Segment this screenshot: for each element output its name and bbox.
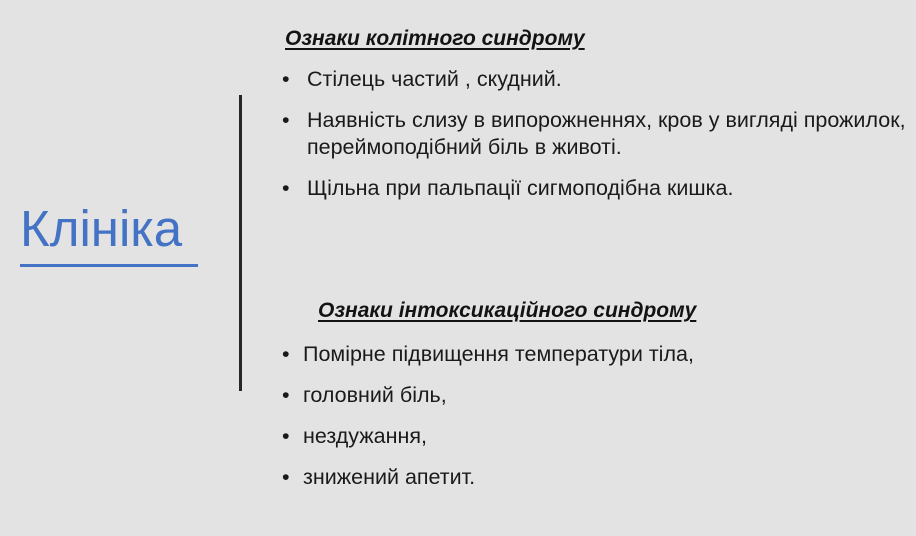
page-title: Клініка xyxy=(20,196,182,262)
list-item: • Стілець частий , скудний. xyxy=(270,66,916,93)
bullet-point-icon: • xyxy=(282,66,290,93)
bullet-list-colitis: • Стілець частий , скудний. • Наявність … xyxy=(270,66,916,202)
bullet-list-intoxication: • Помірне підвищення температури тіла, •… xyxy=(270,341,916,491)
list-item: • Щільна при пальпації сигмоподібна кишк… xyxy=(270,175,916,202)
list-item-text: знижений апетит. xyxy=(303,465,475,489)
list-item-text: нездужання, xyxy=(303,424,427,448)
list-item-text: Наявність слизу в випорожненнях, кров у … xyxy=(307,108,906,159)
list-item: • Помірне підвищення температури тіла, xyxy=(270,341,916,368)
bullet-point-icon: • xyxy=(282,175,290,202)
bullet-point-icon: • xyxy=(282,464,290,491)
content-column: Ознаки колітного синдрому • Стілець част… xyxy=(270,0,916,536)
section-heading-intoxication: Ознаки інтоксикаційного синдрому xyxy=(318,296,916,326)
list-item-text: головний біль, xyxy=(303,383,447,407)
section-colitis-syndrome: Ознаки колітного синдрому • Стілець част… xyxy=(270,24,916,216)
list-item: • знижений апетит. xyxy=(270,464,916,491)
slide-canvas: Клініка Ознаки колітного синдрому • Стіл… xyxy=(0,0,916,536)
list-item-text: Щільна при пальпації сигмоподібна кишка. xyxy=(307,176,733,200)
vertical-divider xyxy=(239,95,242,391)
list-item: • головний біль, xyxy=(270,382,916,409)
section-intoxication-syndrome: Ознаки інтоксикаційного синдрому • Помір… xyxy=(270,296,916,505)
section-heading-colitis: Ознаки колітного синдрому xyxy=(285,24,916,54)
list-item-text: Помірне підвищення температури тіла, xyxy=(303,342,694,366)
list-item: • нездужання, xyxy=(270,423,916,450)
list-item-text: Стілець частий , скудний. xyxy=(307,67,562,91)
title-underline xyxy=(20,264,198,267)
bullet-point-icon: • xyxy=(282,341,290,368)
title-block: Клініка xyxy=(0,196,235,286)
bullet-point-icon: • xyxy=(282,423,290,450)
bullet-point-icon: • xyxy=(282,382,290,409)
list-item: • Наявність слизу в випорожненнях, кров … xyxy=(270,107,916,161)
bullet-point-icon: • xyxy=(282,107,290,134)
